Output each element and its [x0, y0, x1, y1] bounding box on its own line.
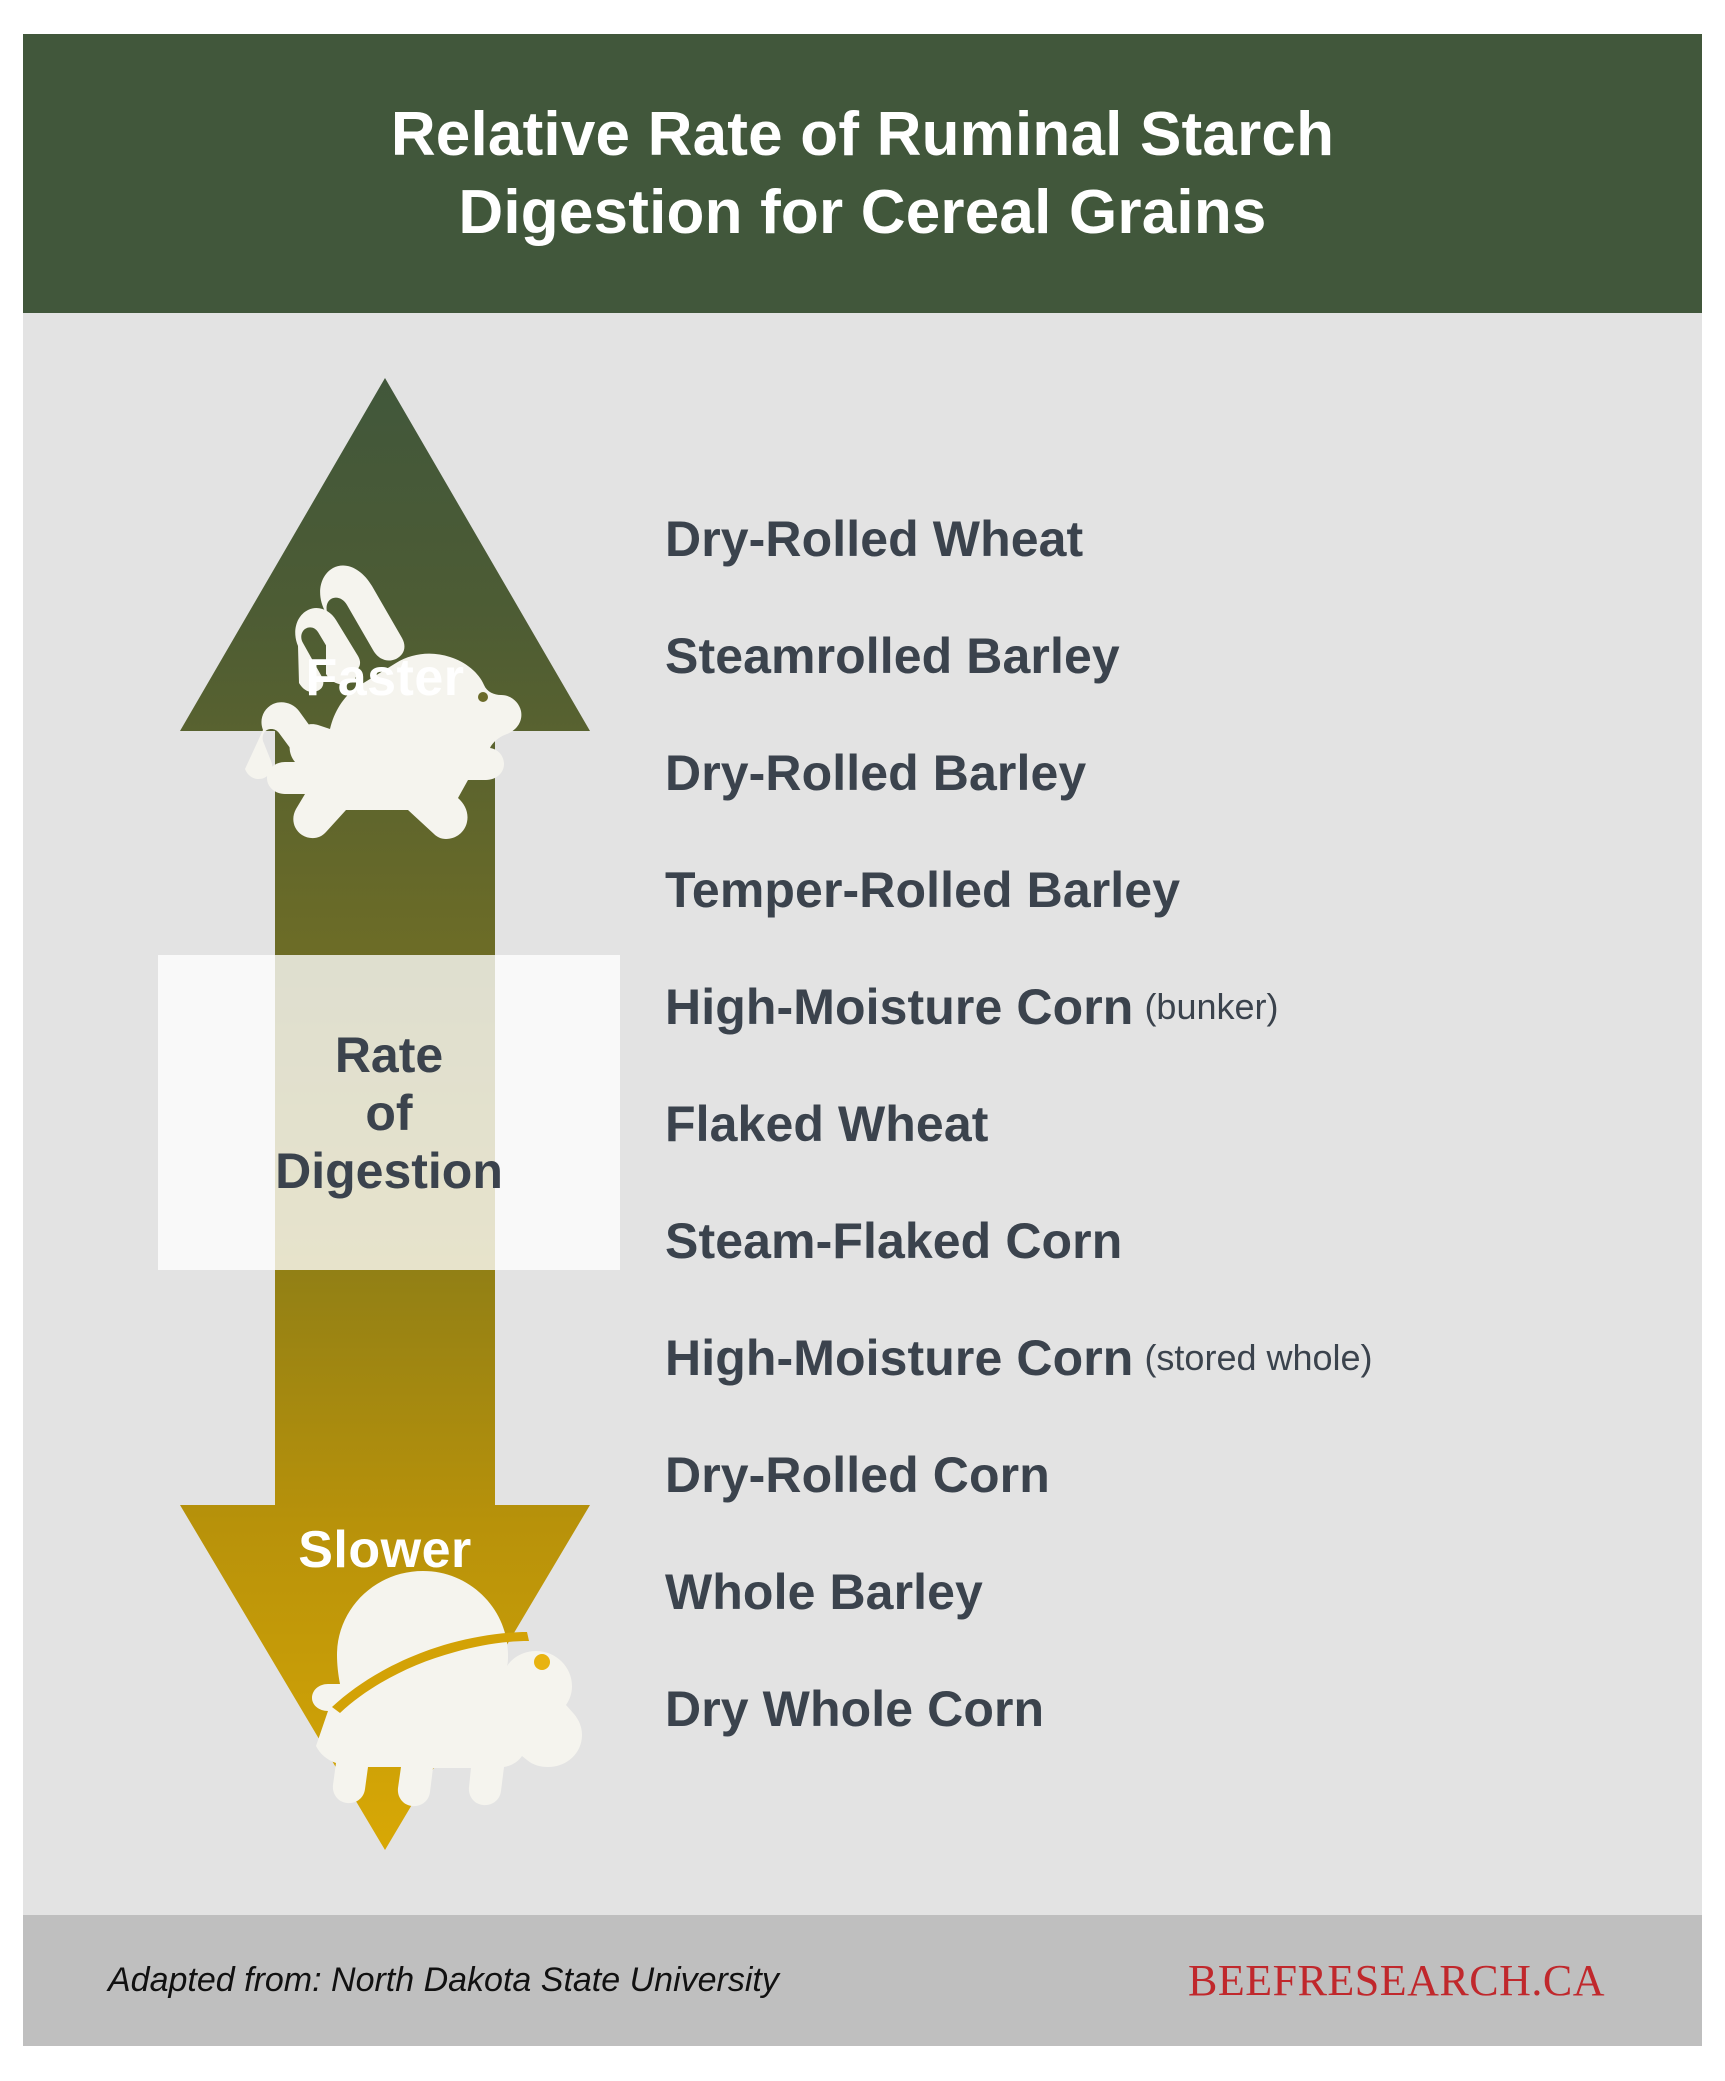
- list-item: Dry-Rolled Wheat: [665, 480, 1665, 597]
- list-item: High-Moisture Corn (bunker): [665, 948, 1665, 1065]
- list-item: High-Moisture Corn (stored whole): [665, 1299, 1665, 1416]
- grain-name: Steam-Flaked Corn: [665, 1212, 1122, 1270]
- grain-name: High-Moisture Corn: [665, 978, 1133, 1036]
- list-item: Temper-Rolled Barley: [665, 831, 1665, 948]
- list-item: Steamrolled Barley: [665, 597, 1665, 714]
- grain-name: Dry-Rolled Wheat: [665, 510, 1083, 568]
- list-item: Steam-Flaked Corn: [665, 1182, 1665, 1299]
- grain-name: Flaked Wheat: [665, 1095, 989, 1153]
- list-item: Flaked Wheat: [665, 1065, 1665, 1182]
- list-item: Whole Barley: [665, 1533, 1665, 1650]
- grain-name: High-Moisture Corn: [665, 1329, 1133, 1387]
- brand-wordmark[interactable]: BEEFRESEARCH.CA: [1188, 1955, 1605, 2006]
- footer-band: Adapted from: North Dakota State Univers…: [23, 1915, 1702, 2046]
- page-title: Relative Rate of Ruminal Starch Digestio…: [263, 96, 1463, 251]
- list-item: Dry-Rolled Corn: [665, 1416, 1665, 1533]
- rate-line-3: Digestion: [275, 1142, 503, 1200]
- rate-of-digestion-label: Rate of Digestion: [158, 955, 620, 1270]
- grain-name: Dry Whole Corn: [665, 1680, 1044, 1738]
- grain-name: Dry-Rolled Barley: [665, 744, 1086, 802]
- grain-list: Dry-Rolled Wheat Steamrolled Barley Dry-…: [665, 480, 1665, 1767]
- grain-note: (stored whole): [1144, 1337, 1372, 1379]
- source-credit: Adapted from: North Dakota State Univers…: [108, 1961, 779, 2000]
- infographic-root: Relative Rate of Ruminal Starch Digestio…: [0, 0, 1725, 2081]
- list-item: Dry-Rolled Barley: [665, 714, 1665, 831]
- grain-name: Temper-Rolled Barley: [665, 861, 1180, 919]
- grain-name: Dry-Rolled Corn: [665, 1446, 1050, 1504]
- grain-name: Steamrolled Barley: [665, 627, 1120, 685]
- list-item: Dry Whole Corn: [665, 1650, 1665, 1767]
- grain-note: (bunker): [1144, 986, 1278, 1028]
- rate-line-2: of: [365, 1084, 412, 1142]
- header-band: Relative Rate of Ruminal Starch Digestio…: [23, 34, 1702, 313]
- rate-line-1: Rate: [335, 1026, 443, 1084]
- grain-name: Whole Barley: [665, 1563, 983, 1621]
